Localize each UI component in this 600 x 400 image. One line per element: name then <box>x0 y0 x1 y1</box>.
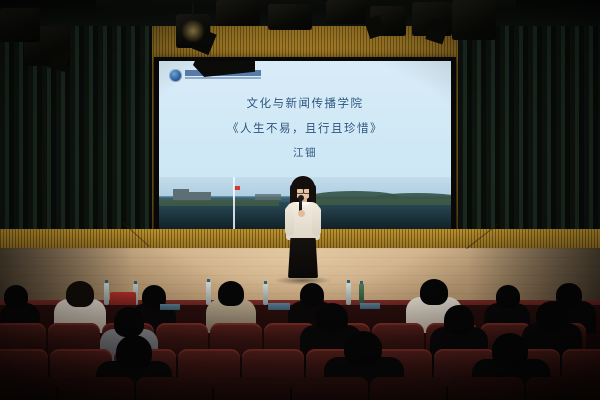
stage-spotlight <box>176 14 210 48</box>
stage-spotlight <box>452 0 496 40</box>
auditorium-seat <box>292 377 368 400</box>
stage-spotlight <box>412 2 452 36</box>
speaker-skirt <box>288 238 318 278</box>
audience-head <box>420 279 448 305</box>
photo-panel-seam <box>233 177 235 229</box>
audience-head <box>218 281 244 306</box>
lecture-hall-scene: 文化与新闻传播学院 《人生不易，且行且珍惜》 江钿 <box>0 0 600 400</box>
auditorium-seat <box>214 377 290 400</box>
photo-shoreline <box>309 199 451 205</box>
stage-spotlight <box>268 4 312 30</box>
audience-laptop <box>160 304 180 310</box>
auditorium-seat <box>58 377 134 400</box>
logo-emblem-icon <box>169 69 182 82</box>
speaker-figure <box>283 176 323 280</box>
water-bottle <box>104 283 109 305</box>
speaker-hand <box>298 210 305 217</box>
audience-head <box>444 305 474 335</box>
auditorium-seat <box>448 377 524 400</box>
audience-head <box>116 335 152 369</box>
stage-spotlight <box>326 0 366 24</box>
stage-spotlight <box>370 6 406 36</box>
speaker-arm-left <box>285 206 294 236</box>
audience-head <box>492 333 528 367</box>
slide-line-speaker: 江钿 <box>159 145 451 160</box>
red-bag <box>110 292 136 306</box>
stage-spotlight <box>0 8 40 42</box>
slide-line-title: 《人生不易，且行且珍惜》 <box>159 120 451 136</box>
photo-shoreline <box>159 200 279 206</box>
auditorium-seat <box>0 377 56 400</box>
water-bottle <box>263 284 268 305</box>
audience-head <box>536 301 568 331</box>
speaker-arm-right <box>312 206 321 236</box>
audience-head <box>114 307 144 337</box>
audience-head <box>4 285 28 308</box>
stage-spotlight <box>216 0 260 26</box>
audience-head <box>300 283 324 307</box>
audience-seating <box>0 305 600 400</box>
auditorium-seat <box>526 377 600 400</box>
audience-head <box>496 285 520 308</box>
auditorium-seat <box>136 377 212 400</box>
audience-head <box>66 281 94 307</box>
water-bottle <box>359 284 364 305</box>
microphone-head <box>298 195 304 201</box>
audience-head <box>316 303 348 333</box>
slide-text-block: 文化与新闻传播学院 《人生不易，且行且珍惜》 江钿 <box>159 95 451 160</box>
water-bottle <box>346 283 351 305</box>
slide-line-organization: 文化与新闻传播学院 <box>159 95 451 111</box>
auditorium-seat <box>370 377 446 400</box>
audience-head <box>344 331 382 365</box>
audience-laptop <box>360 303 380 309</box>
audience-laptop <box>268 303 290 310</box>
